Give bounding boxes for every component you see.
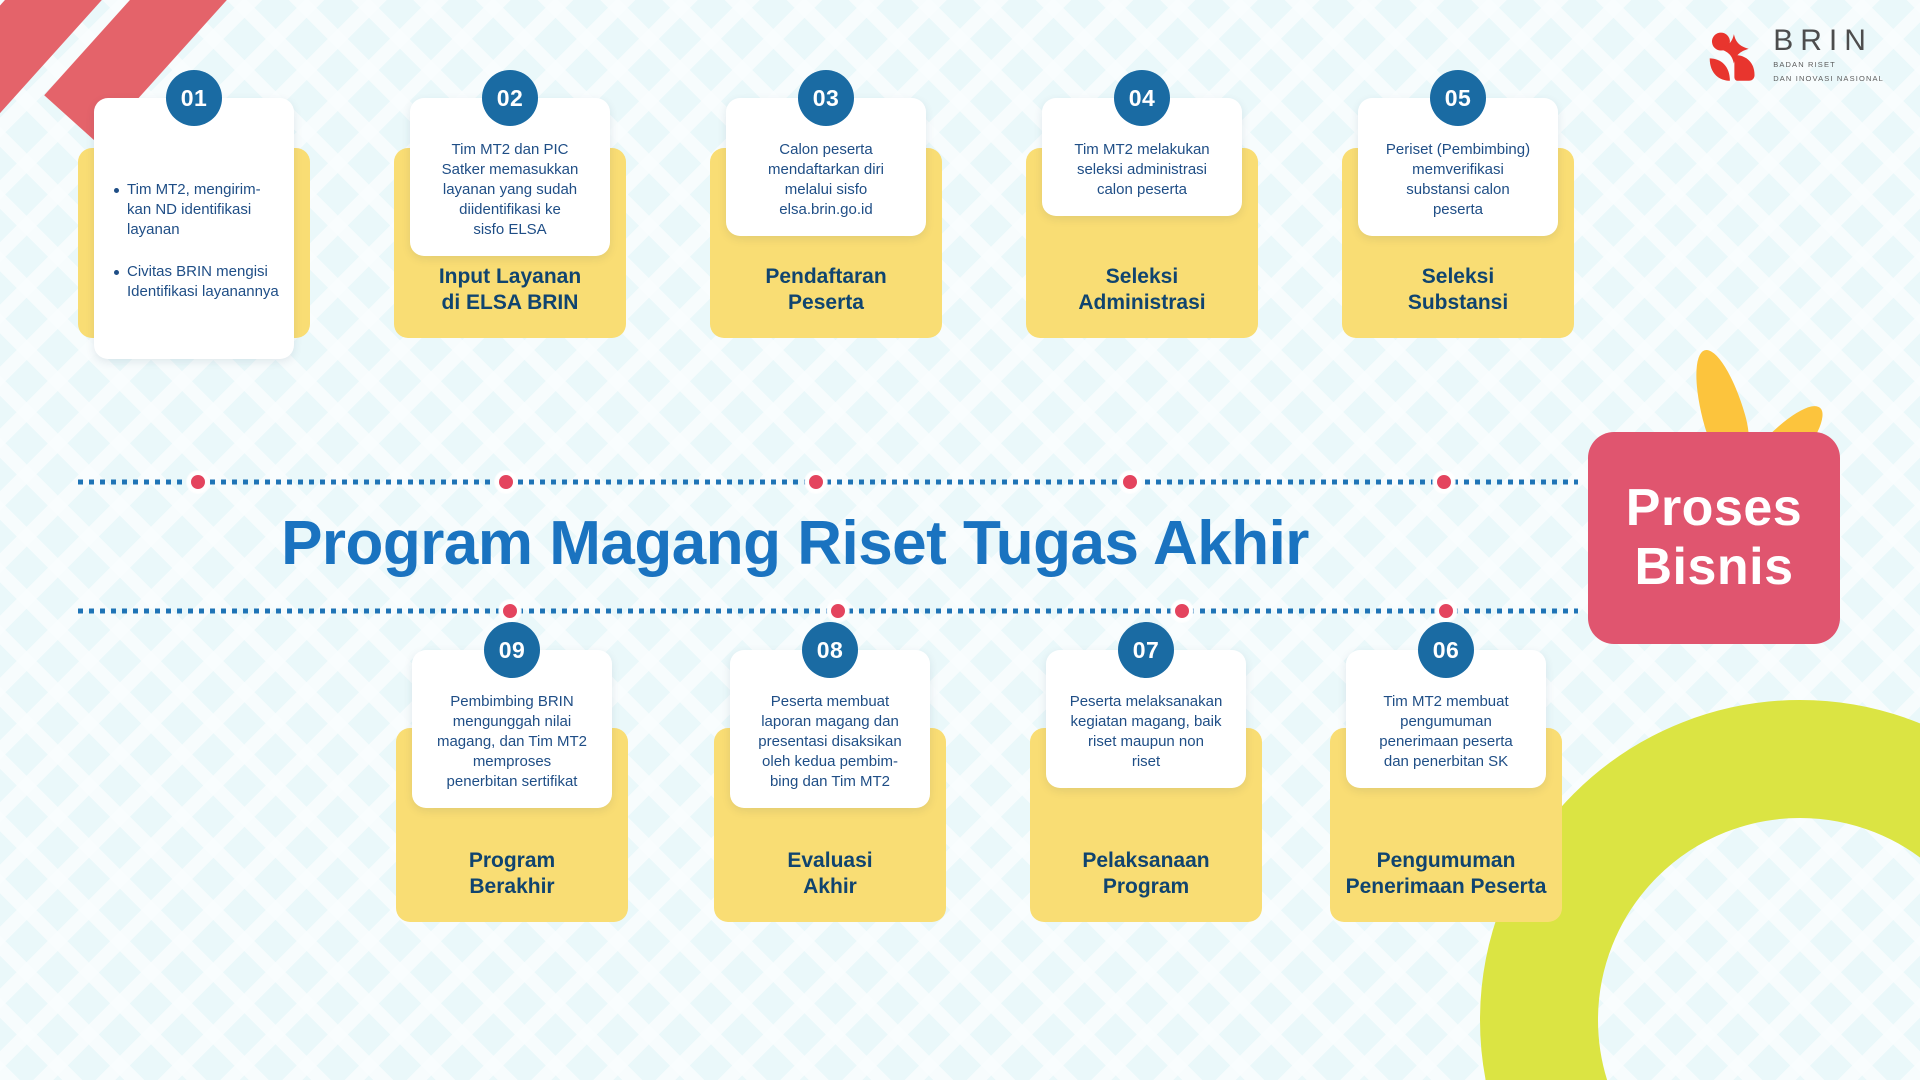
brin-logo-text: BRIN BADAN RISET DAN INOVASI NASIONAL [1773, 26, 1884, 84]
timeline-node-4 [1119, 471, 1141, 493]
step-bullet-list-01: Tim MT2, mengirim-kan ND identifikasi la… [112, 160, 280, 324]
step-number-04: 04 [1114, 70, 1170, 126]
brin-logo: BRIN BADAN RISET DAN INOVASI NASIONAL [1703, 26, 1884, 84]
badge-box: Proses Bisnis [1588, 432, 1840, 644]
step-number-05: 05 [1430, 70, 1486, 126]
step-body-03: Calon peserta mendaftarkan diri melalui … [740, 140, 912, 220]
step-label-02: Input Layanan di ELSA BRIN [439, 264, 581, 316]
step-detail-card-05: 05 Periset (Pembimbing) memverifikasi su… [1358, 98, 1558, 236]
list-item: Tim MT2, mengirim-kan ND identifikasi la… [112, 180, 280, 240]
step-label-04: Seleksi Administrasi [1078, 264, 1205, 316]
brin-tagline-line2: DAN INOVASI NASIONAL [1773, 74, 1884, 84]
step-number-01: 01 [166, 70, 222, 126]
timeline-node-9 [1435, 600, 1457, 622]
infographic-canvas: BRIN BADAN RISET DAN INOVASI NASIONAL Id… [0, 0, 1920, 1080]
step-detail-card-07: 07 Peserta melaksanakan kegiatan magang,… [1046, 650, 1246, 788]
step-number-09: 09 [484, 622, 540, 678]
step-detail-card-03: 03 Calon peserta mendaftarkan diri melal… [726, 98, 926, 236]
step-body-06: Tim MT2 membuat pengumuman penerimaan pe… [1360, 692, 1532, 772]
step-number-02: 02 [482, 70, 538, 126]
step-detail-card-08: 08 Peserta membuat laporan magang dan pr… [730, 650, 930, 808]
step-number-06: 06 [1418, 622, 1474, 678]
step-detail-card-06: 06 Tim MT2 membuat pengumuman penerimaan… [1346, 650, 1546, 788]
timeline-top-dotted-line [78, 480, 1578, 485]
timeline-bottom [78, 607, 1578, 615]
stripe-2 [0, 0, 69, 143]
step-label-09: Program Berakhir [469, 848, 555, 900]
proses-bisnis-badge: Proses Bisnis [1588, 432, 1840, 644]
step-body-08: Peserta membuat laporan magang dan prese… [744, 692, 916, 792]
badge-line-2: Bisnis [1634, 540, 1793, 595]
step-label-07: Pelaksanaan Program [1082, 848, 1209, 900]
list-item: Civitas BRIN mengisi Identifikasi layana… [112, 262, 280, 302]
step-body-09: Pembimbing BRIN mengunggah nilai magang,… [426, 692, 598, 792]
step-detail-card-09: 09 Pembimbing BRIN mengunggah nilai maga… [412, 650, 612, 808]
step-number-08: 08 [802, 622, 858, 678]
timeline-node-6 [499, 600, 521, 622]
step-label-03: Pendaftaran Peserta [765, 264, 886, 316]
step-label-08: Evaluasi Akhir [787, 848, 872, 900]
step-detail-card-04: 04 Tim MT2 melakukan seleksi administras… [1042, 98, 1242, 216]
timeline-node-7 [827, 600, 849, 622]
step-body-01: Tim MT2, mengirim-kan ND identifikasi la… [108, 140, 280, 343]
brin-emblem-icon [1703, 27, 1759, 83]
timeline-node-3 [805, 471, 827, 493]
step-detail-card-02: 02 Tim MT2 dan PIC Satker memasukkan lay… [410, 98, 610, 256]
timeline-node-8 [1171, 600, 1193, 622]
step-detail-card-01: 01 Tim MT2, mengirim-kan ND identifikasi… [94, 98, 294, 359]
brin-wordmark: BRIN [1773, 26, 1884, 56]
step-number-03: 03 [798, 70, 854, 126]
step-number-07: 07 [1118, 622, 1174, 678]
brin-tagline-line1: BADAN RISET [1773, 60, 1884, 70]
timeline-top [78, 478, 1578, 486]
timeline-node-2 [495, 471, 517, 493]
step-label-05: Seleksi Substansi [1408, 264, 1508, 316]
badge-line-1: Proses [1626, 481, 1802, 536]
timeline-node-5 [1433, 471, 1455, 493]
step-body-05: Periset (Pembimbing) memverifikasi subst… [1372, 140, 1544, 220]
step-body-07: Peserta melaksanakan kegiatan magang, ba… [1060, 692, 1232, 772]
step-body-04: Tim MT2 melakukan seleksi administrasi c… [1056, 140, 1228, 200]
step-body-02: Tim MT2 dan PIC Satker memasukkan layana… [424, 140, 596, 240]
timeline-node-1 [187, 471, 209, 493]
step-label-06: Pengumuman Penerimaan Peserta [1346, 848, 1547, 900]
